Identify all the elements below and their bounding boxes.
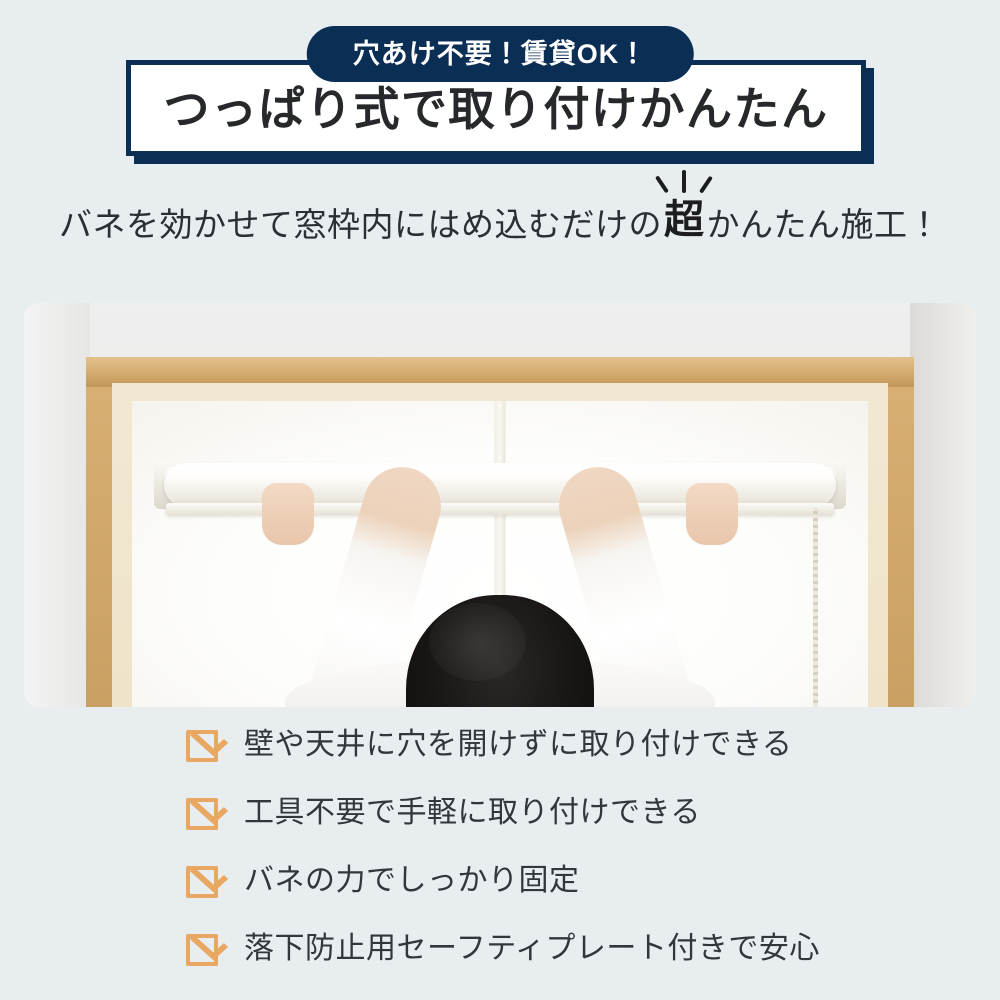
subtitle-emphasis-wrapper: 超 (662, 200, 707, 241)
sparkle-icon (652, 170, 716, 198)
photo-wall-right (910, 303, 976, 707)
blind-bead-chain (813, 507, 818, 707)
window-mullion (495, 401, 506, 707)
roller-blind-bottom-rail (166, 503, 834, 515)
list-item: 壁や天井に穴を開けずに取り付けできる (186, 722, 1000, 768)
window-frame-inner-liner (132, 401, 868, 707)
product-photo (24, 303, 976, 707)
subtitle-text-before: バネを効かせて窓枠内にはめ込むだけの (59, 208, 662, 241)
status-badge-label: 穴あけ不要！賃貸OK！ (353, 41, 648, 68)
subtitle-emphasis-text: 超 (664, 200, 705, 240)
checkbox-checked-icon (186, 726, 226, 764)
list-item: 落下防止用セーフティプレート付きで安心 (186, 926, 1000, 972)
checklist-item-label: 落下防止用セーフティプレート付きで安心 (244, 934, 820, 964)
header-section: つっぱり式で取り付けかんたん 穴あけ不要！賃貸OK！ (0, 0, 1000, 180)
page-title: つっぱり式で取り付けかんたん (164, 86, 829, 132)
photo-wall-left (24, 303, 90, 707)
list-item: 工具不要で手軽に取り付けできる (186, 790, 1000, 836)
window-frame (86, 357, 914, 707)
status-badge: 穴あけ不要！賃貸OK！ (307, 26, 694, 82)
checklist-item-label: 工具不要で手軽に取り付けできる (244, 798, 701, 828)
checklist-item-label: バネの力でしっかり固定 (244, 866, 580, 896)
checklist-item-label: 壁や天井に穴を開けずに取り付けできる (244, 730, 792, 760)
subtitle-text-after: かんたん施工！ (707, 208, 942, 241)
checkbox-checked-icon (186, 794, 226, 832)
feature-checklist: 壁や天井に穴を開けずに取り付けできる 工具不要で手軽に取り付けできる バネの力で… (0, 722, 1000, 972)
checkbox-checked-icon (186, 862, 226, 900)
list-item: バネの力でしっかり固定 (186, 858, 1000, 904)
window-frame-inner (112, 383, 888, 707)
checkbox-checked-icon (186, 930, 226, 968)
roller-blind-tube (164, 463, 836, 507)
subtitle: バネを効かせて窓枠内にはめ込むだけの 超 かんたん施工！ (0, 200, 1000, 241)
